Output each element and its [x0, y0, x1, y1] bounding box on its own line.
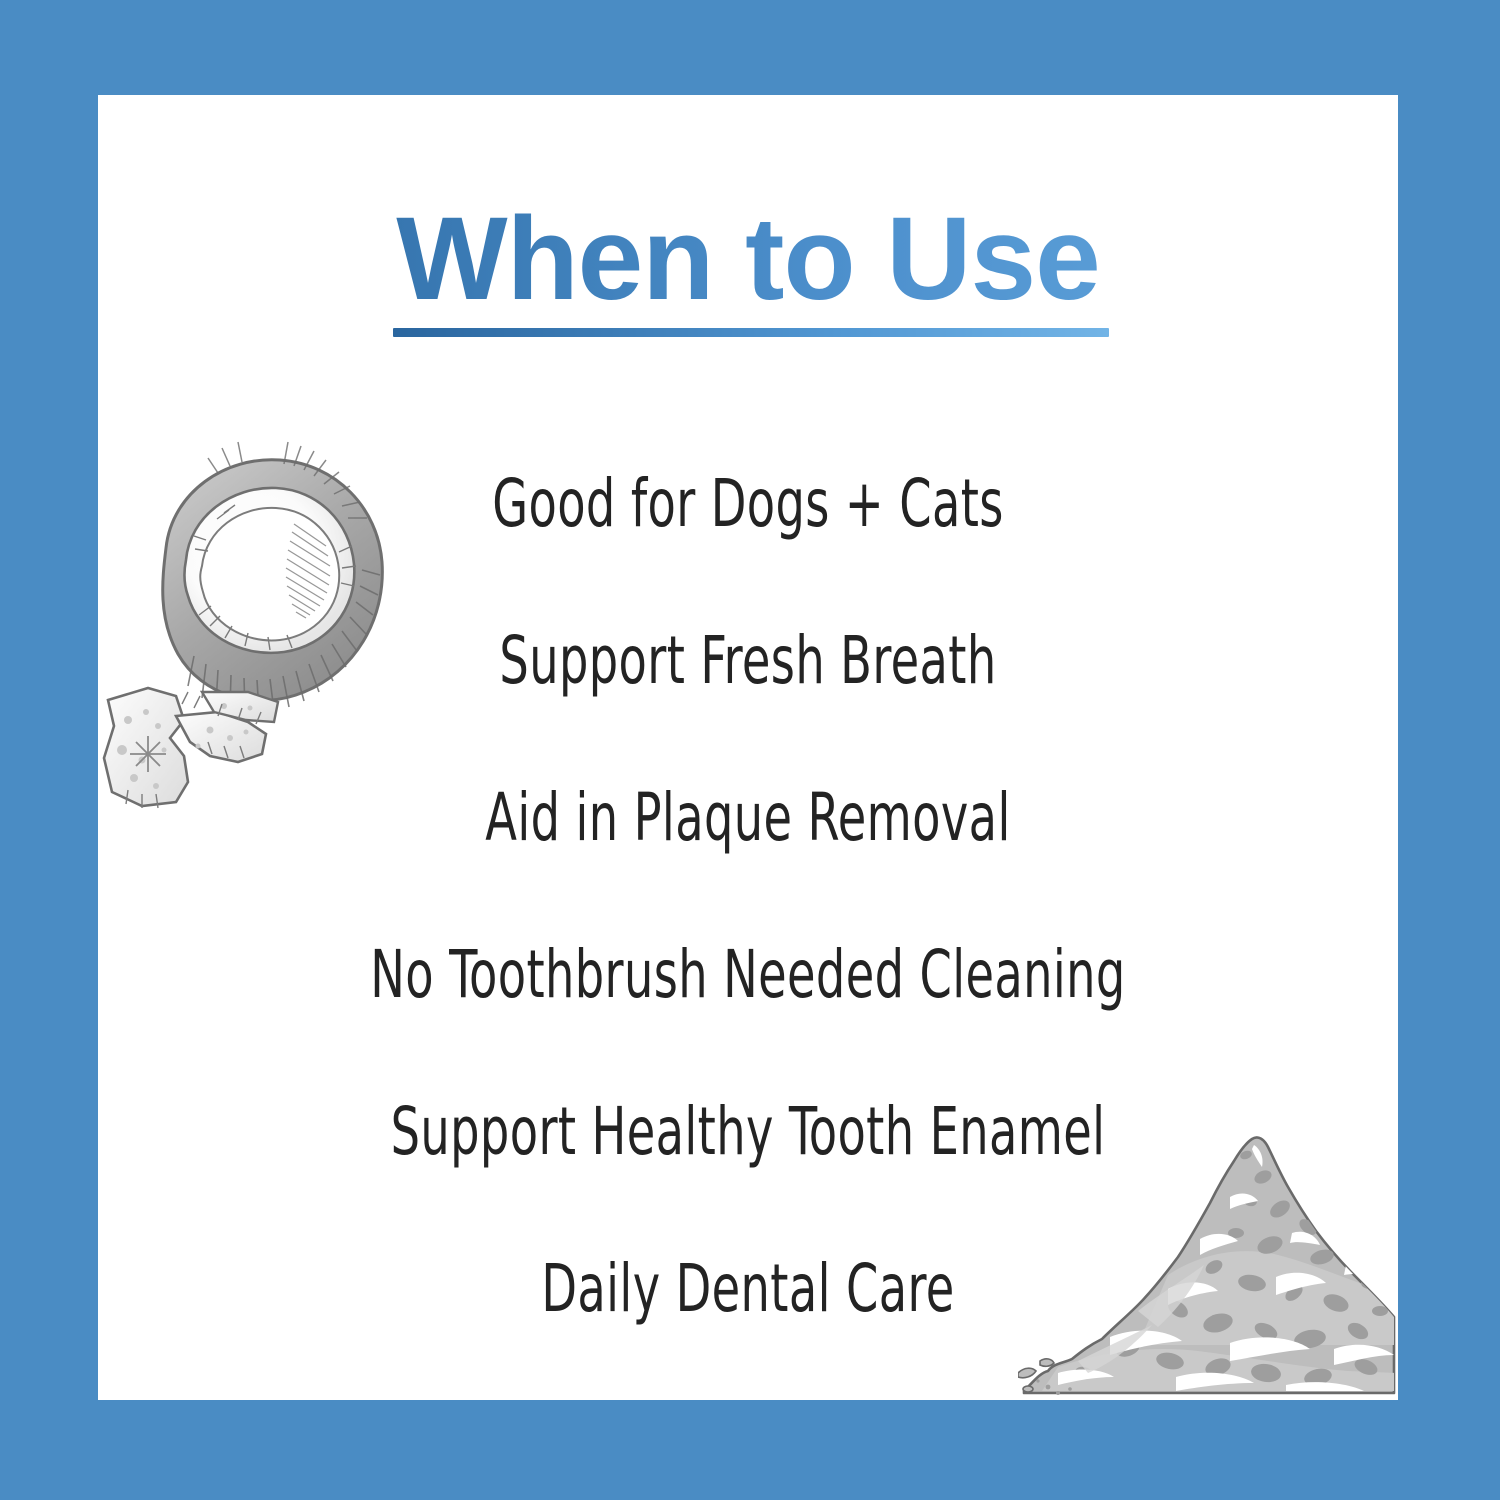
benefit-item: No Toothbrush Needed Cleaning: [241, 896, 1255, 1053]
benefit-item: Support Fresh Breath: [241, 582, 1255, 739]
white-content-card: When to Use: [98, 95, 1398, 1400]
powder-pile-illustration: [1018, 1105, 1398, 1400]
benefit-item: Good for Dogs + Cats: [241, 425, 1255, 582]
poster-canvas: When to Use: [0, 0, 1500, 1500]
title-underline-rule: [393, 328, 1109, 337]
benefit-item: Aid in Plaque Removal: [241, 739, 1255, 896]
page-title: When to Use: [98, 200, 1398, 318]
powder-mound-body: [1024, 1137, 1398, 1397]
